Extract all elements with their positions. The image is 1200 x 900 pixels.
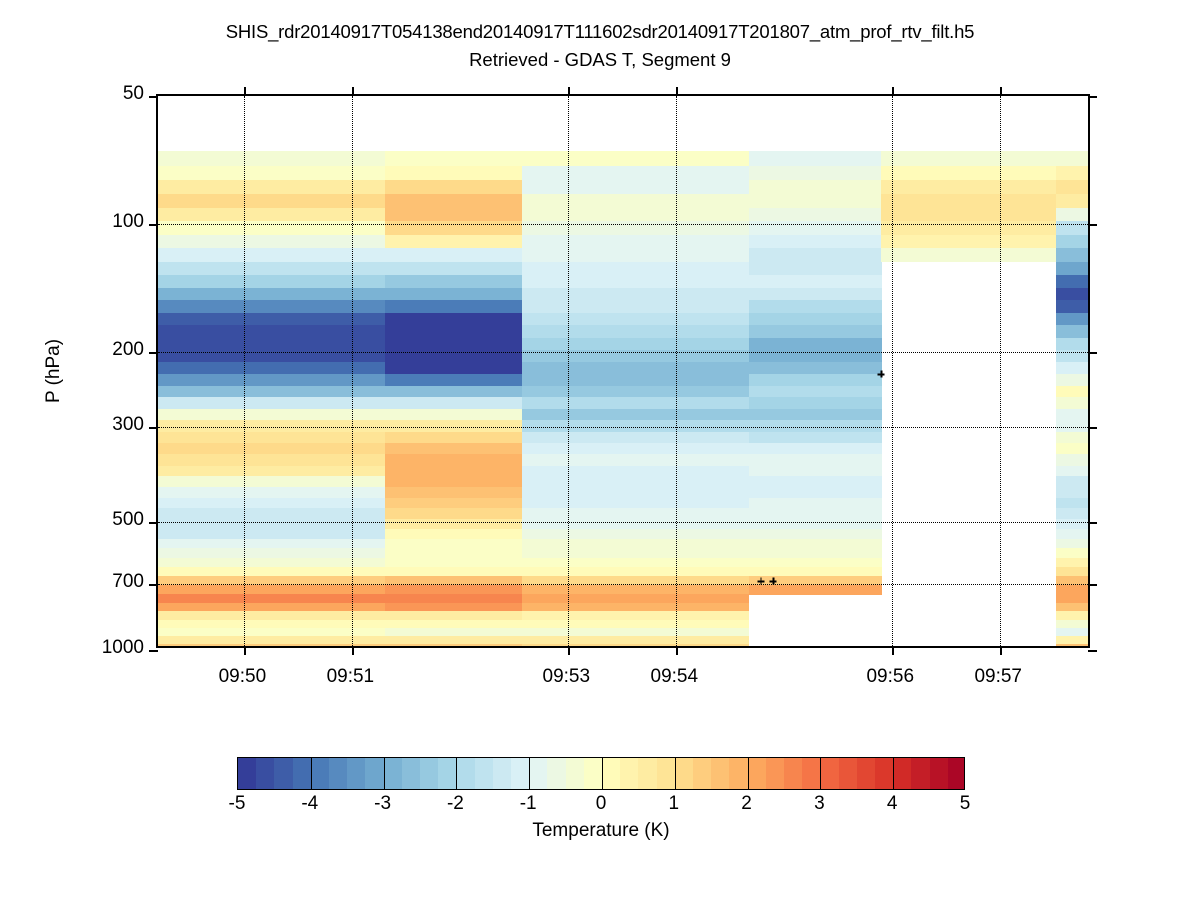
colorbar-segment (675, 758, 694, 789)
y-axis-tick-right (1088, 584, 1097, 586)
colorbar-tick-label: 3 (814, 793, 825, 815)
colorbar-segment (820, 758, 839, 789)
colorbar-tick-label: -1 (520, 793, 537, 815)
colorbar-gradient (237, 757, 965, 790)
data-point-marker (878, 371, 885, 378)
y-tick-label: 700 (112, 571, 144, 593)
colorbar-tick (311, 758, 312, 789)
y-tick-label: 200 (112, 339, 144, 361)
colorbar-segment (584, 758, 603, 789)
colorbar-tick (529, 758, 530, 789)
colorbar-segment (948, 758, 965, 789)
y-axis-tick-right (1088, 427, 1097, 429)
colorbar-segment (384, 758, 403, 789)
y-axis-tick (149, 96, 158, 98)
colorbar-tick-label: 5 (960, 793, 971, 815)
x-axis-tick (892, 646, 894, 655)
data-markers-layer (158, 96, 1088, 646)
colorbar-segment (511, 758, 530, 789)
colorbar-tick-label: 4 (887, 793, 898, 815)
x-tick-label: 09:54 (651, 666, 699, 688)
colorbar-segment (529, 758, 548, 789)
y-tick-label: 100 (112, 211, 144, 233)
y-axis-tick (149, 352, 158, 354)
colorbar-tick (820, 758, 821, 789)
x-axis-tick (244, 646, 246, 655)
data-point-marker (757, 578, 764, 585)
colorbar-segment (766, 758, 785, 789)
x-axis-tick-top (892, 87, 894, 96)
colorbar-tick-label: 1 (669, 793, 680, 815)
x-axis-tick (568, 646, 570, 655)
x-tick-label: 09:51 (327, 666, 375, 688)
colorbar-tick-label: 0 (596, 793, 607, 815)
colorbar-segment (602, 758, 621, 789)
colorbar-segment (256, 758, 275, 789)
colorbar-tick (456, 758, 457, 789)
heatmap-plot-area[interactable] (156, 94, 1090, 648)
colorbar-segment (311, 758, 330, 789)
figure-canvas: SHIS_rdr20140917T054138end20140917T11160… (0, 0, 1200, 900)
colorbar-segment (857, 758, 876, 789)
colorbar-segment (238, 758, 257, 789)
y-axis-tick (149, 650, 158, 652)
colorbar-segment (566, 758, 585, 789)
y-axis-tick-right (1088, 650, 1097, 652)
y-tick-label: 500 (112, 509, 144, 531)
y-axis-tick (149, 522, 158, 524)
x-tick-label: 09:50 (219, 666, 267, 688)
colorbar-tick-label: -2 (447, 793, 464, 815)
x-tick-label: 09:57 (974, 666, 1022, 688)
colorbar-segment (620, 758, 639, 789)
colorbar-segment (839, 758, 858, 789)
title-block: SHIS_rdr20140917T054138end20140917T11160… (0, 20, 1200, 72)
x-axis-tick-top (352, 87, 354, 96)
colorbar-segment (547, 758, 566, 789)
y-axis-tick-right (1088, 224, 1097, 226)
x-axis-tick (352, 646, 354, 655)
y-axis-tick-right (1088, 96, 1097, 98)
colorbar-tick (675, 758, 676, 789)
y-tick-label: 300 (112, 414, 144, 436)
colorbar-segment (329, 758, 348, 789)
x-axis-tick-top (244, 87, 246, 96)
colorbar-tick-label: -3 (374, 793, 391, 815)
colorbar-title: Temperature (K) (237, 820, 965, 842)
colorbar[interactable]: -5-4-3-2-1012345 Temperature (K) (237, 757, 965, 790)
colorbar-segment (711, 758, 730, 789)
colorbar-segment (293, 758, 312, 789)
y-axis-tick-right (1088, 522, 1097, 524)
colorbar-tick (893, 758, 894, 789)
y-axis-tick (149, 224, 158, 226)
colorbar-segment (347, 758, 366, 789)
colorbar-segment (784, 758, 803, 789)
colorbar-segment (802, 758, 821, 789)
colorbar-tick (384, 758, 385, 789)
colorbar-segment (438, 758, 457, 789)
colorbar-segment (748, 758, 767, 789)
y-axis-tick (149, 427, 158, 429)
colorbar-segment (493, 758, 512, 789)
figure-subtitle: Retrieved - GDAS T, Segment 9 (0, 48, 1200, 72)
x-axis-tick-top (676, 87, 678, 96)
colorbar-segment (693, 758, 712, 789)
colorbar-segment (420, 758, 439, 789)
colorbar-tick-label: -4 (301, 793, 318, 815)
colorbar-tick-label: 2 (741, 793, 752, 815)
colorbar-segment (729, 758, 748, 789)
colorbar-segment (875, 758, 894, 789)
colorbar-segment (475, 758, 494, 789)
colorbar-segment (274, 758, 293, 789)
colorbar-segment (911, 758, 930, 789)
colorbar-segment (638, 758, 657, 789)
x-axis-tick-top (568, 87, 570, 96)
figure-title: SHIS_rdr20140917T054138end20140917T11160… (0, 20, 1200, 44)
data-point-marker (770, 578, 777, 585)
colorbar-tick-label: -5 (229, 793, 246, 815)
y-axis-tick (149, 584, 158, 586)
x-axis-tick (676, 646, 678, 655)
colorbar-tick (748, 758, 749, 789)
colorbar-segment (365, 758, 384, 789)
x-tick-label: 09:53 (543, 666, 591, 688)
y-axis-tick-right (1088, 352, 1097, 354)
y-tick-label: 50 (123, 83, 144, 105)
y-tick-label: 1000 (102, 637, 144, 659)
colorbar-tick (602, 758, 603, 789)
x-tick-label: 09:56 (866, 666, 914, 688)
colorbar-segment (930, 758, 949, 789)
x-axis-tick (1000, 646, 1002, 655)
colorbar-segment (893, 758, 912, 789)
colorbar-segment (456, 758, 475, 789)
x-axis-tick-top (1000, 87, 1002, 96)
colorbar-segment (402, 758, 421, 789)
colorbar-segment (657, 758, 676, 789)
y-axis-title: P (hPa) (43, 339, 65, 403)
